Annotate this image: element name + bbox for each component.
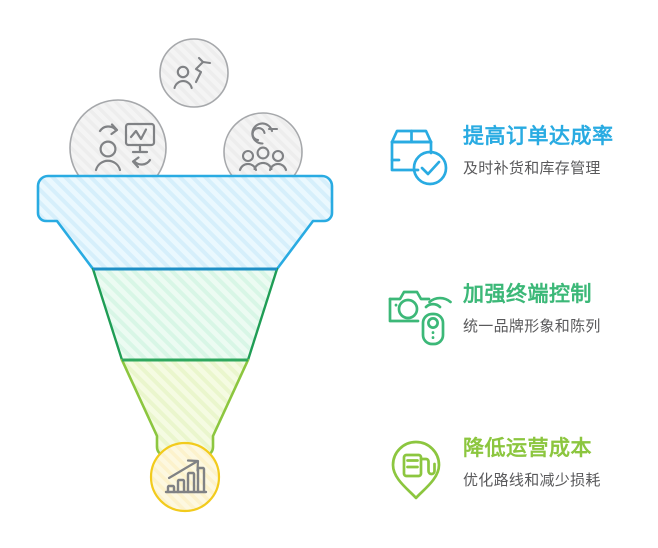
circle-person-running (160, 39, 228, 107)
camera-remote-icon-wrap (385, 276, 463, 354)
infographic-canvas: 提高订单达成率 及时补货和库存管理 (0, 0, 658, 543)
feature-title: 提高订单达成率 (463, 124, 658, 150)
feature-list: 提高订单达成率 及时补货和库存管理 (385, 0, 658, 543)
package-check-icon-wrap (385, 118, 463, 196)
feature-item-order-fulfillment[interactable]: 提高订单达成率 及时补货和库存管理 (385, 118, 658, 210)
feature-text-operating-cost: 降低运营成本 优化路线和减少损耗 (463, 430, 658, 491)
funnel-body (38, 176, 332, 456)
feature-text-terminal-control: 加强终端控制 统一品牌形象和陈列 (463, 276, 658, 337)
funnel-svg (0, 0, 370, 543)
circle-growth-chart (151, 443, 219, 511)
fuel-pin-icon (385, 434, 457, 506)
funnel-band-green (93, 269, 277, 360)
feature-subtitle: 统一品牌形象和陈列 (463, 317, 658, 337)
feature-item-operating-cost[interactable]: 降低运营成本 优化路线和减少损耗 (385, 430, 658, 522)
feature-item-terminal-control[interactable]: 加强终端控制 统一品牌形象和陈列 (385, 276, 658, 368)
feature-title: 加强终端控制 (463, 282, 658, 308)
funnel-diagram (0, 0, 370, 543)
fuel-pin-icon-wrap (385, 430, 463, 508)
feature-title: 降低运营成本 (463, 436, 658, 462)
feature-text-order-fulfillment: 提高订单达成率 及时补货和库存管理 (463, 118, 658, 179)
feature-subtitle: 优化路线和减少损耗 (463, 471, 658, 491)
funnel-band-blue (38, 176, 332, 269)
feature-subtitle: 及时补货和库存管理 (463, 159, 658, 179)
package-check-icon (385, 122, 457, 194)
camera-remote-icon (385, 280, 457, 352)
funnel-input-circles (70, 39, 302, 196)
funnel-band-lime (122, 360, 248, 456)
